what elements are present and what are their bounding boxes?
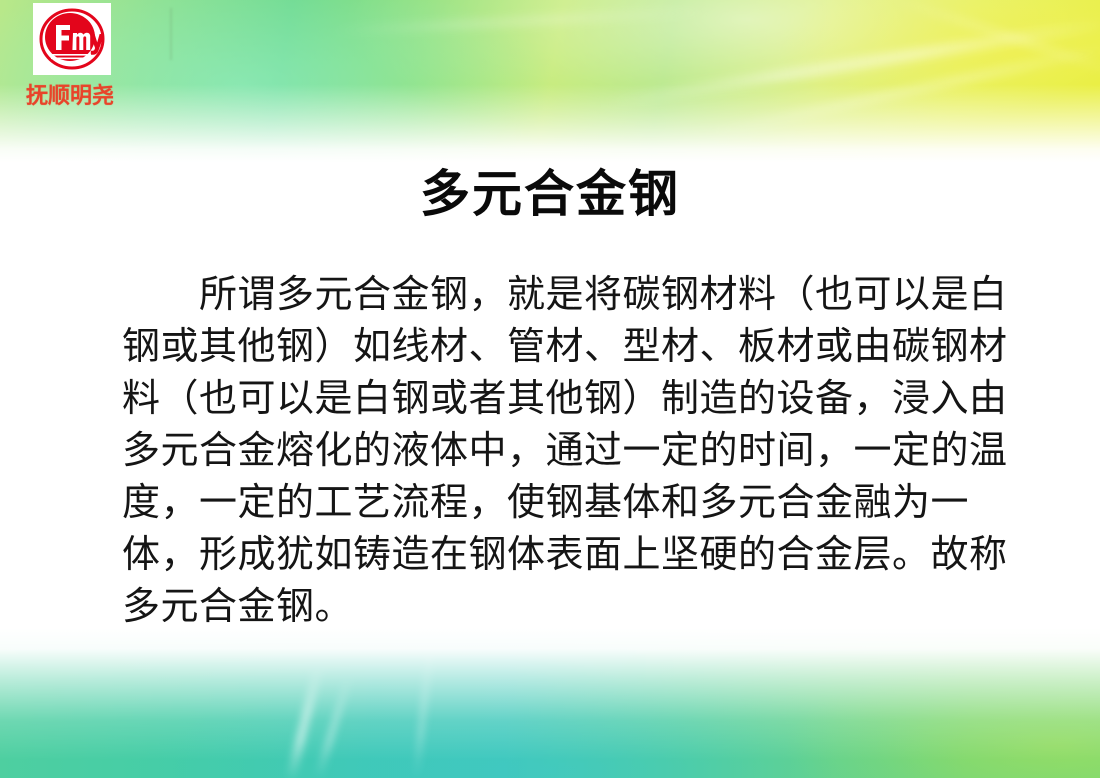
top-decorative-banner — [0, 0, 1100, 162]
company-name-label: 抚顺明尧 — [26, 78, 144, 110]
slide-title: 多元合金钢 — [0, 163, 1100, 225]
fmy-logo-icon — [38, 7, 106, 71]
bottom-banner-white-fade — [0, 628, 1100, 778]
top-banner-white-fade — [0, 0, 1100, 162]
slide-body-paragraph: 所谓多元合金钢，就是将碳钢材料（也可以是白钢或其他钢）如线材、管材、型材、板材或… — [122, 268, 1030, 632]
bottom-decorative-banner — [0, 628, 1100, 778]
presentation-slide: 抚顺明尧 多元合金钢 所谓多元合金钢，就是将碳钢材料（也可以是白钢或其他钢）如线… — [0, 0, 1100, 778]
logo-white-plate — [33, 3, 111, 75]
